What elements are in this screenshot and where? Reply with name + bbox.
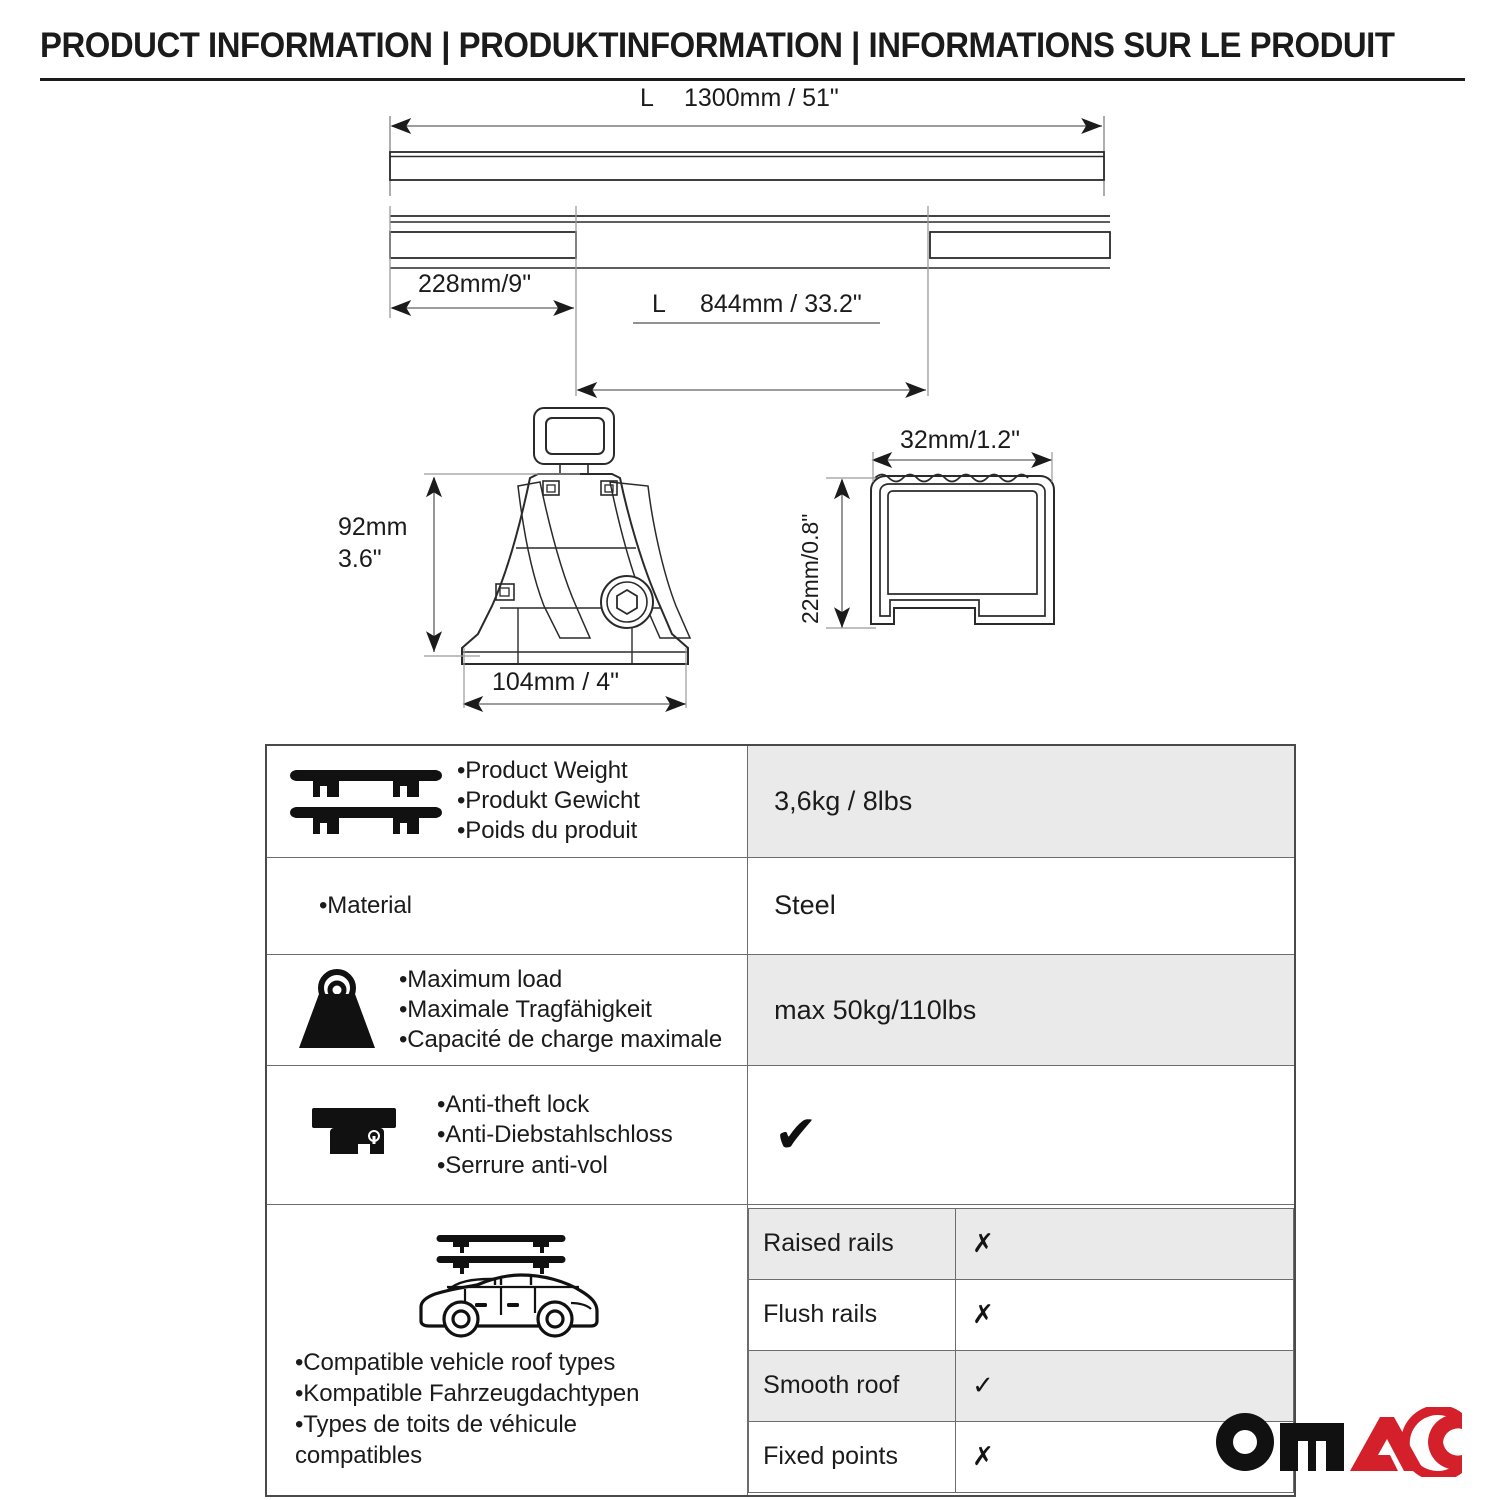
roof-type-mark: ✗ [956,1279,1294,1350]
roof-types-labels: •Compatible vehicle roof types •Kompatib… [281,1348,695,1471]
lock-icon [281,1100,431,1170]
maximum-load-value: max 50kg/110lbs [748,954,1295,1066]
span-label: L [652,290,666,318]
roof-type-name: Raised rails [749,1208,956,1279]
label-line: •Poids du produit [457,816,735,846]
bar-length-value: 1300mm / 51" [684,86,839,112]
table-row: •Product Weight •Produkt Gewicht •Poids … [266,745,1295,857]
label-line: •Types de toits de véhicule compatibles [295,1410,695,1471]
specification-table: •Product Weight •Produkt Gewicht •Poids … [265,744,1296,1497]
span-dimension [578,323,926,390]
profile-height-value: 22mm/0.8" [797,514,823,624]
label-line: •Compatible vehicle roof types [295,1348,695,1379]
roof-type-name: Flush rails [749,1279,956,1350]
foot-mount-drawing [462,408,690,664]
roof-type-row: Flush rails ✗ [749,1279,1294,1350]
label-line: •Material [319,891,735,921]
label-line: •Capacité de charge maximale [399,1025,735,1055]
foot-offset-value: 228mm/9" [418,270,531,298]
omac-logo [1214,1406,1464,1478]
crossbar-top-view [390,152,1104,180]
check-mark-icon: ✓ [972,1371,994,1401]
foot-width-value: 104mm / 4" [492,668,619,696]
cross-mark-icon: ✗ [972,1300,994,1330]
roof-type-name: Smooth roof [749,1350,956,1421]
bar-cross-section [871,475,1054,625]
maximum-load-label-cell: •Maximum load •Maximale Tragfähigkeit •C… [266,954,748,1066]
roof-type-row: Raised rails ✗ [749,1208,1294,1279]
span-value: 844mm / 33.2" [700,290,862,318]
omac-logo-mark [1214,1407,1464,1477]
table-row: •Anti-theft lock •Anti-Diebstahlschloss … [266,1066,1295,1205]
product-weight-labels: •Product Weight •Produkt Gewicht •Poids … [457,756,735,847]
table-row: •Material Steel [266,857,1295,954]
product-weight-label-cell: •Product Weight •Produkt Gewicht •Poids … [266,745,748,857]
label-line: •Anti-theft lock [437,1090,735,1120]
label-line: •Maximale Tragfähigkeit [399,995,735,1025]
technical-drawing: L 1300mm / 51" [0,86,1500,726]
bar-length-label: L [640,86,654,112]
crossbars-icon [281,760,451,842]
maximum-load-labels: •Maximum load •Maximale Tragfähigkeit •C… [399,965,735,1056]
roof-type-mark: ✗ [956,1208,1294,1279]
car-with-racks-icon [403,1223,613,1348]
roof-types-value-cell: Raised rails ✗ Flush rails ✗ [748,1205,1295,1496]
profile-height-dimension [826,478,876,628]
profile-width-value: 32mm/1.2" [900,426,1020,454]
product-information-page: PRODUCT INFORMATION | PRODUKTINFORMATION… [0,0,1500,1500]
page-title: PRODUCT INFORMATION | PRODUKTINFORMATION… [40,26,1384,66]
anti-theft-lock-value: ✔ [748,1066,1295,1205]
check-mark-icon: ✔ [774,1105,818,1165]
product-weight-value: 3,6kg / 8lbs [748,745,1295,857]
header-divider [40,78,1465,81]
label-line: •Anti-Diebstahlschloss [437,1120,735,1150]
roof-types-table: Raised rails ✗ Flush rails ✗ [748,1208,1294,1493]
anti-theft-lock-labels: •Anti-theft lock •Anti-Diebstahlschloss … [437,1090,735,1181]
label-line: •Produkt Gewicht [457,786,735,816]
material-label-cell: •Material [266,857,748,954]
label-line: •Product Weight [457,756,735,786]
roof-types-label-cell: •Compatible vehicle roof types •Kompatib… [266,1205,748,1496]
label-line: •Kompatible Fahrzeugdachtypen [295,1379,695,1410]
cross-mark-icon: ✗ [972,1442,994,1472]
weight-icon [281,968,393,1052]
foot-height-line2: 3.6" [338,545,382,573]
label-line: •Maximum load [399,965,735,995]
roof-type-row: Smooth roof ✓ [749,1350,1294,1421]
table-row: •Compatible vehicle roof types •Kompatib… [266,1205,1295,1496]
roof-type-row: Fixed points ✗ [749,1421,1294,1492]
material-labels: •Material [281,891,735,921]
material-value: Steel [748,857,1295,954]
anti-theft-lock-label-cell: •Anti-theft lock •Anti-Diebstahlschloss … [266,1066,748,1205]
cross-mark-icon: ✗ [972,1229,994,1259]
foot-height-line1: 92mm [338,513,407,541]
table-row: •Maximum load •Maximale Tragfähigkeit •C… [266,954,1295,1066]
label-line: •Serrure anti-vol [437,1151,735,1181]
roof-type-name: Fixed points [749,1421,956,1492]
